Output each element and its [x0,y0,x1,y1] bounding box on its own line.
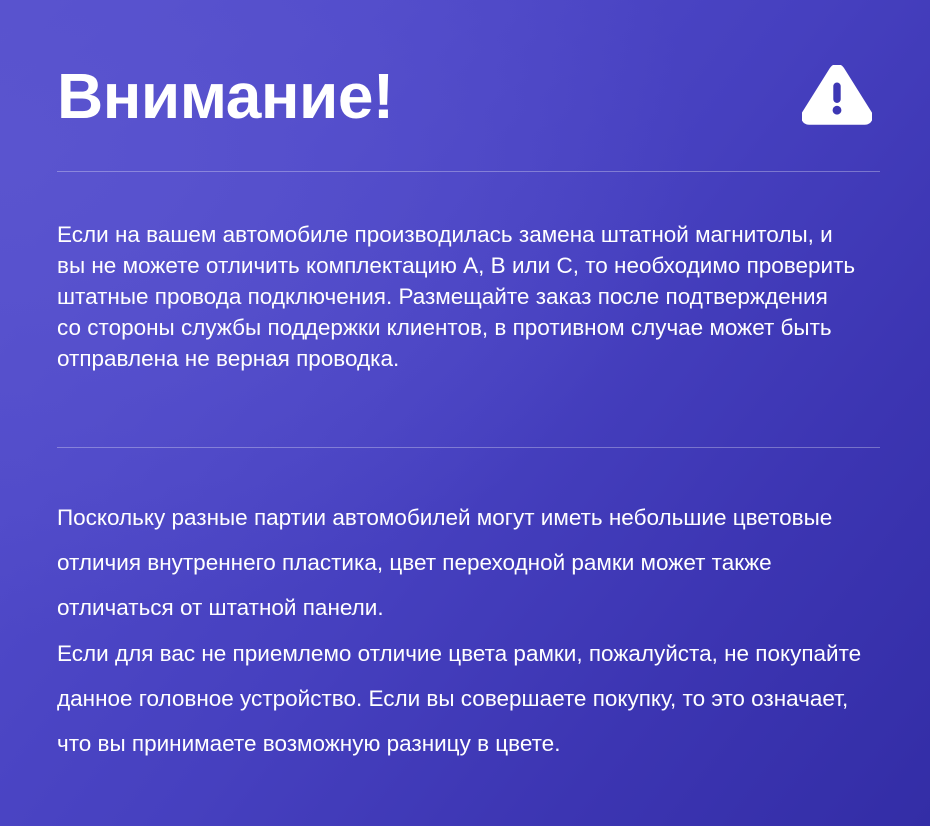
notice-text-purchase-agreement: Если для вас не приемлемо отличие цвета … [57,631,885,766]
warning-banner: Внимание! Если на вашем автомобиле произ… [0,0,930,826]
divider-middle [57,447,880,448]
notice-text-color-variation: Поскольку разные партии автомобилей могу… [57,495,885,630]
divider-top [57,171,880,172]
warning-triangle-icon [802,65,878,127]
notice-block-purchase-agreement: Если для вас не приемлемо отличие цвета … [57,631,885,766]
banner-header: Внимание! [57,58,878,134]
page-title: Внимание! [57,64,394,128]
notice-block-magnitola: Если на вашем автомобиле производилась з… [57,219,857,374]
notice-text-magnitola: Если на вашем автомобиле производилась з… [57,219,857,374]
notice-block-color-variation: Поскольку разные партии автомобилей могу… [57,495,885,630]
